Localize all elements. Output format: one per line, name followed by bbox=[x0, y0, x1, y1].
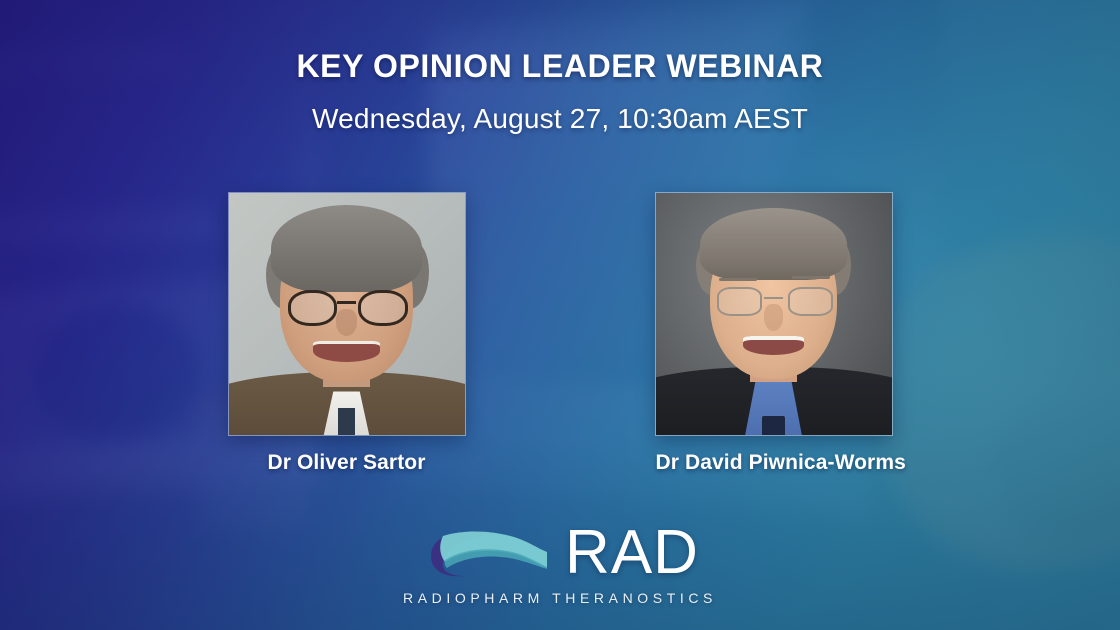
portrait-brow-left bbox=[290, 280, 332, 284]
brand-logo: RAD RADIOPHARM THERANOSTICS bbox=[0, 522, 1120, 606]
portrait-eyeglass-right bbox=[358, 290, 408, 326]
logo-lockup: RAD bbox=[421, 522, 699, 584]
portrait-eyeglass-bridge bbox=[337, 301, 356, 304]
portrait-tie bbox=[762, 416, 786, 435]
portrait-hair bbox=[700, 208, 846, 281]
portrait-nose bbox=[764, 304, 783, 331]
portrait-tie bbox=[338, 408, 355, 435]
speaker-card: Dr Oliver Sartor bbox=[229, 193, 465, 475]
webinar-banner: KEY OPINION LEADER WEBINAR Wednesday, Au… bbox=[0, 0, 1120, 630]
portrait-eyeglass-left bbox=[717, 287, 762, 316]
logo-tagline: RADIOPHARM THERANOSTICS bbox=[403, 590, 717, 606]
speaker-name: Dr Oliver Sartor bbox=[229, 451, 465, 475]
speaker-portrait-oliver-sartor bbox=[229, 193, 465, 435]
speaker-name: Dr David Piwnica-Worms bbox=[656, 451, 892, 475]
speaker-card: Dr David Piwnica-Worms bbox=[656, 193, 892, 475]
speaker-list: Dr Oliver Sartor bbox=[0, 193, 1120, 475]
portrait-brow-right bbox=[363, 279, 405, 283]
portrait-nose bbox=[336, 309, 357, 336]
portrait-eyeglass-left bbox=[288, 290, 338, 326]
banner-content: KEY OPINION LEADER WEBINAR Wednesday, Au… bbox=[0, 0, 1120, 630]
speaker-portrait-david-piwnica-worms bbox=[656, 193, 892, 435]
page-title: KEY OPINION LEADER WEBINAR bbox=[0, 48, 1120, 85]
portrait-brow-left bbox=[719, 278, 757, 281]
portrait-eyeglass-right bbox=[788, 287, 833, 316]
portrait-eyeglass-bridge bbox=[764, 297, 783, 299]
event-datetime: Wednesday, August 27, 10:30am AEST bbox=[0, 103, 1120, 135]
logo-wordmark: RAD bbox=[565, 524, 699, 583]
rad-swoosh-icon bbox=[421, 522, 553, 584]
